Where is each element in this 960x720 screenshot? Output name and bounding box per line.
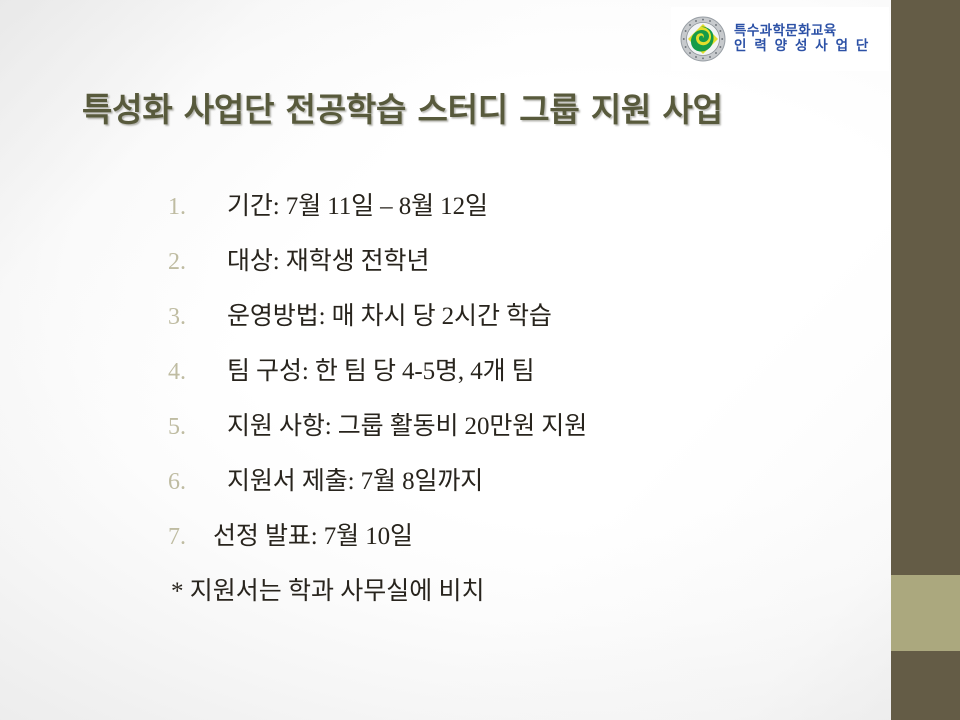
list-item-text: 팀 구성: 한 팀 당 4-5명, 4개 팀 — [227, 351, 535, 387]
list-item-number: 3. — [168, 304, 227, 331]
list-item: 3. 운영방법: 매 차시 당 2시간 학습 — [168, 296, 868, 351]
list-item-number: 5. — [168, 414, 227, 441]
logo-plate: 특수과학문화교육 인 력 양 성 사 업 단 — [671, 7, 889, 71]
list-item-number: 4. — [168, 359, 227, 386]
university-emblem-icon — [680, 16, 726, 62]
list-item-number: 1. — [168, 194, 227, 221]
presentation-slide: 특수과학문화교육 인 력 양 성 사 업 단 특성화 사업단 전공학습 스터디 … — [0, 0, 960, 720]
list-item: 6. 지원서 제출: 7월 8일까지 — [168, 461, 868, 516]
content-list: 1. 기간: 7월 11일 – 8월 12일 2. 대상: 재학생 전학년 3.… — [168, 186, 868, 626]
list-item-text: 대상: 재학생 전학년 — [227, 241, 429, 277]
list-item-number: 2. — [168, 249, 227, 276]
slide-title: 특성화 사업단 전공학습 스터디 그룹 지원 사업 — [82, 83, 723, 131]
list-item: 7. 선정 발표: 7월 10일 — [168, 516, 868, 571]
list-item: 5. 지원 사항: 그룹 활동비 20만원 지원 — [168, 406, 868, 461]
logo-text: 특수과학문화교육 인 력 양 성 사 업 단 — [734, 24, 870, 54]
list-item-text: 선정 발표: 7월 10일 — [213, 516, 413, 552]
right-sidebar-accent-band — [891, 575, 960, 651]
list-item-text: 운영방법: 매 차시 당 2시간 학습 — [227, 296, 552, 332]
logo-text-line2: 인 력 양 성 사 업 단 — [734, 39, 870, 54]
list-item-text: 지원서 제출: 7월 8일까지 — [227, 461, 483, 497]
list-item: 2. 대상: 재학생 전학년 — [168, 241, 868, 296]
footnote: * 지원서는 학과 사무실에 비치 — [171, 571, 868, 626]
list-item: 1. 기간: 7월 11일 – 8월 12일 — [168, 186, 868, 241]
list-item: 4. 팀 구성: 한 팀 당 4-5명, 4개 팀 — [168, 351, 868, 406]
list-item-number: 7. — [168, 524, 213, 551]
logo-text-line1: 특수과학문화교육 — [734, 24, 870, 39]
list-item-text: 지원 사항: 그룹 활동비 20만원 지원 — [227, 406, 587, 442]
list-item-text: 기간: 7월 11일 – 8월 12일 — [227, 186, 488, 222]
list-item-number: 6. — [168, 469, 227, 496]
